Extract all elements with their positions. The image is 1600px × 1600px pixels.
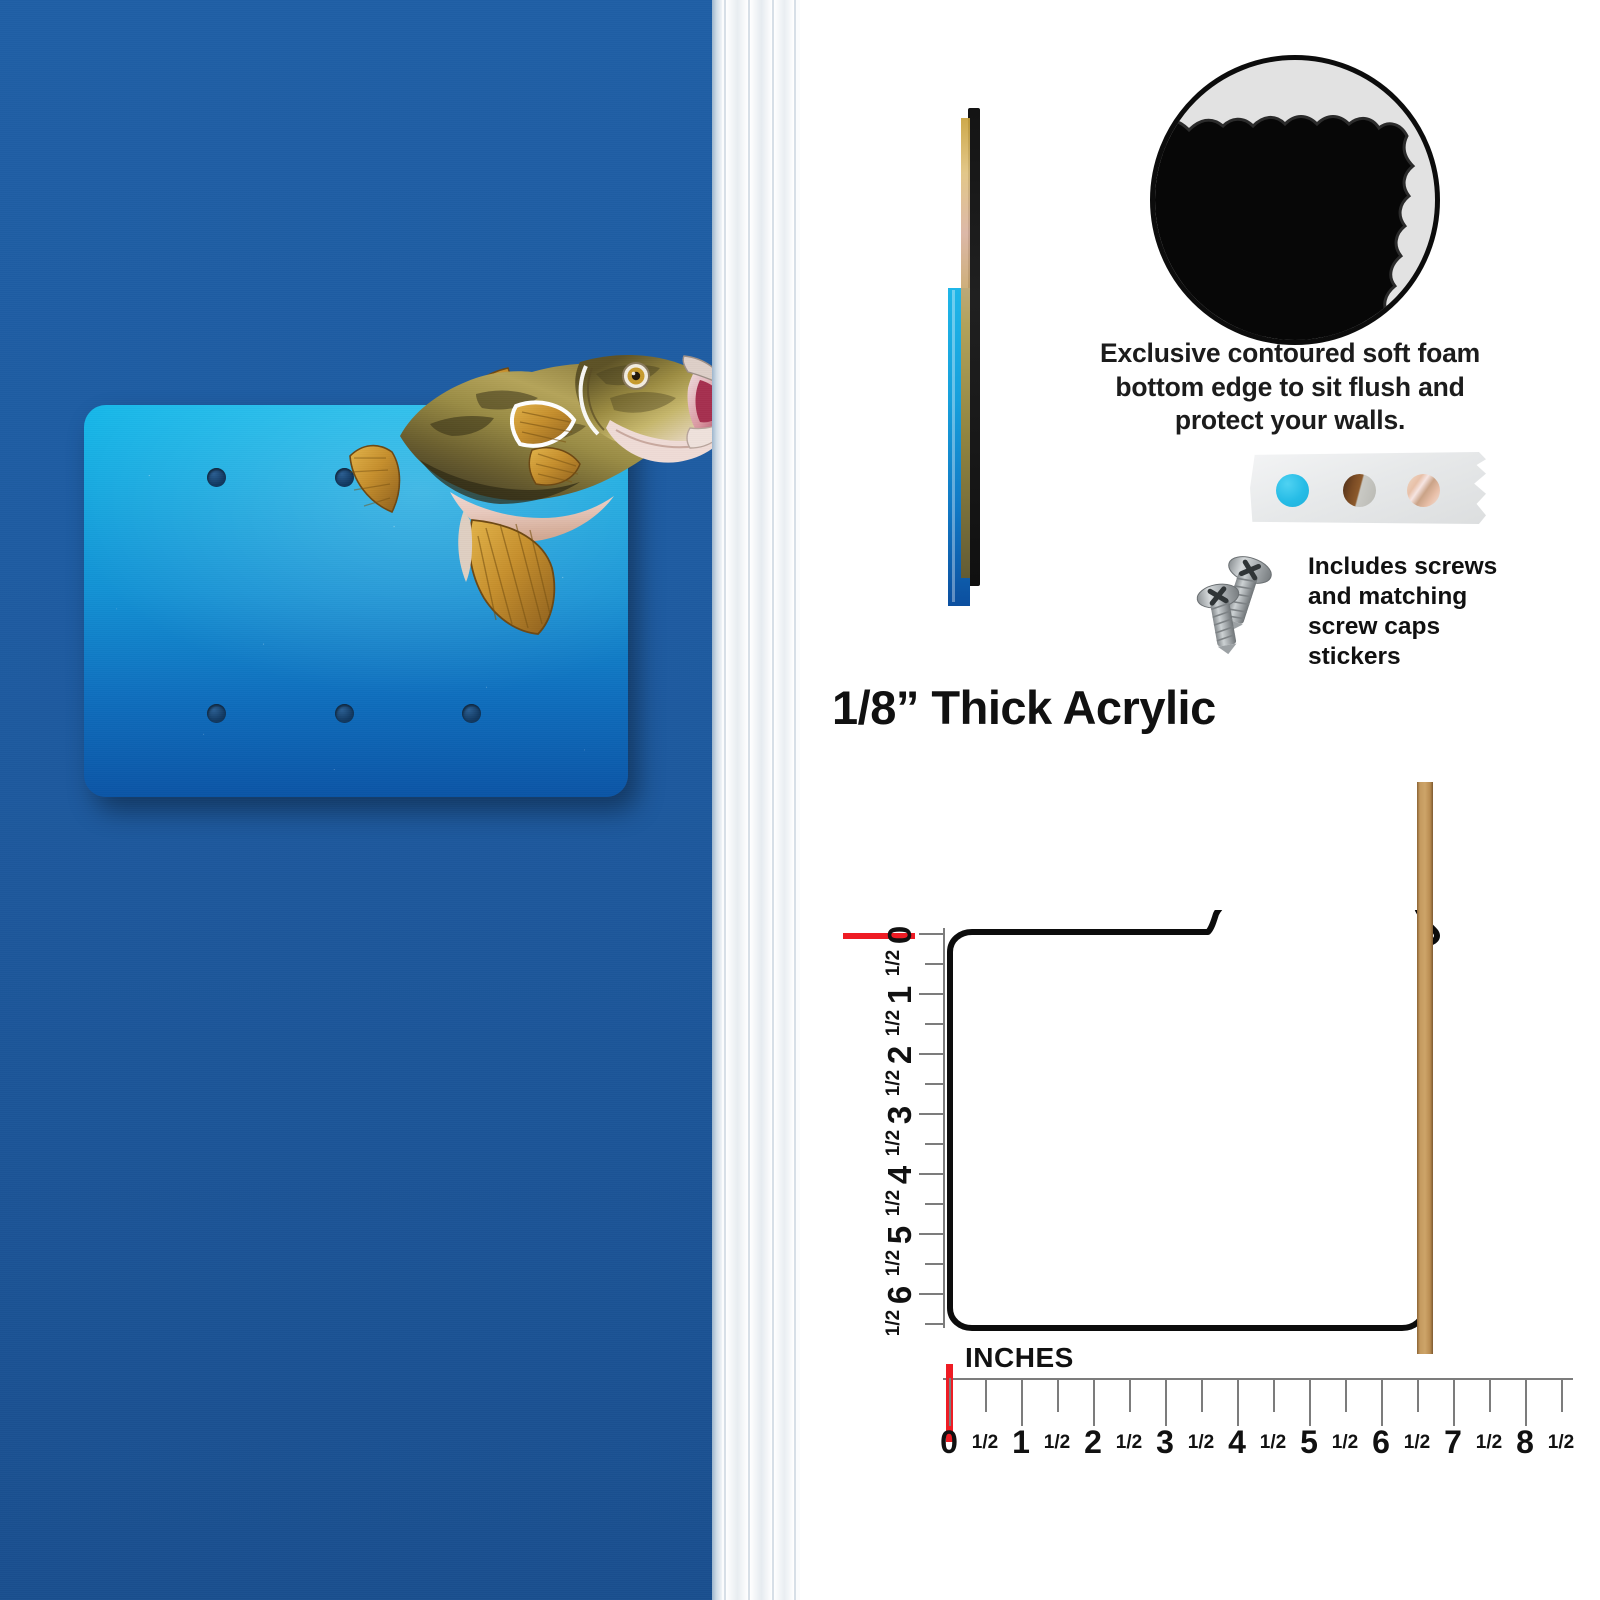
mounting-hole bbox=[207, 468, 226, 487]
h-tick-label: 1/2 bbox=[1260, 1432, 1286, 1454]
v-tick-label: 1/2 bbox=[883, 1010, 905, 1036]
mounting-hole bbox=[462, 704, 481, 723]
trim-shadow-edge bbox=[712, 0, 722, 1600]
h-tick-label: 1/2 bbox=[1188, 1432, 1214, 1454]
vertical-ruler: 0 1/2 1 1/2 2 1/2 3 1/2 4 1/2 bbox=[835, 928, 945, 1328]
h-tick-label: 7 bbox=[1444, 1424, 1462, 1461]
product-outline-shape bbox=[940, 910, 1450, 1340]
h-tick-label: 1/2 bbox=[1116, 1432, 1142, 1454]
wall-background bbox=[0, 0, 712, 1600]
v-tick-label: 2 bbox=[881, 1046, 919, 1064]
h-tick-label: 1 bbox=[1012, 1424, 1030, 1461]
mounting-hole bbox=[335, 468, 354, 487]
horizontal-ruler: INCHES 0 1/2 1 1/2 2 1/2 3 1/2 4 bbox=[943, 1352, 1573, 1462]
dimension-diagram: 0 1/2 1 1/2 2 1/2 3 1/2 4 1/2 bbox=[800, 760, 1600, 1520]
trim-flute bbox=[750, 0, 772, 1600]
h-tick-label: 0 bbox=[940, 1424, 958, 1461]
plaque-speckle-texture bbox=[84, 405, 628, 797]
wood-reference-bar bbox=[1417, 782, 1433, 1354]
trim-flute bbox=[726, 0, 748, 1600]
inches-axis-label: INCHES bbox=[965, 1342, 1074, 1374]
screw-cap-sticker-sheet bbox=[1250, 452, 1486, 524]
edge-profile-icon bbox=[948, 108, 980, 608]
info-panel: Exclusive contoured soft foam bottom edg… bbox=[800, 0, 1600, 1600]
trim-flute bbox=[774, 0, 794, 1600]
foam-edge-callout-text: Exclusive contoured soft foam bottom edg… bbox=[1080, 337, 1500, 438]
v-tick-label: 3 bbox=[881, 1106, 919, 1124]
mounting-hole bbox=[462, 468, 481, 487]
h-tick-label: 1/2 bbox=[1476, 1432, 1502, 1454]
wood-cap-sticker bbox=[1343, 474, 1376, 507]
mounting-hole bbox=[207, 704, 226, 723]
h-tick-label: 2 bbox=[1084, 1424, 1102, 1461]
v-tick-label: 4 bbox=[881, 1166, 919, 1184]
screw-icon bbox=[1188, 548, 1298, 658]
h-tick-label: 6 bbox=[1372, 1424, 1390, 1461]
h-tick-label: 1/2 bbox=[1332, 1432, 1358, 1454]
h-tick-label: 4 bbox=[1228, 1424, 1246, 1461]
thickness-title: 1/8” Thick Acrylic bbox=[832, 680, 1216, 735]
h-tick-label: 1/2 bbox=[1044, 1432, 1070, 1454]
door-trim-molding bbox=[712, 0, 800, 1600]
v-tick-label: 6 bbox=[881, 1286, 919, 1304]
mounting-hole bbox=[335, 704, 354, 723]
v-tick-label: 1/2 bbox=[883, 1190, 905, 1216]
blue-cap-sticker bbox=[1276, 474, 1309, 507]
product-infographic: Exclusive contoured soft foam bottom edg… bbox=[0, 0, 1600, 1600]
v-tick-label: 1/2 bbox=[883, 1310, 905, 1336]
v-tick-label: 1/2 bbox=[883, 950, 905, 976]
foam-edge-zoom-icon bbox=[1150, 55, 1440, 345]
v-tick-label: 1/2 bbox=[883, 1070, 905, 1096]
v-tick-label: 0 bbox=[881, 926, 919, 944]
acrylic-plaque bbox=[84, 405, 628, 797]
h-tick-label: 8 bbox=[1516, 1424, 1534, 1461]
bass-fish-artwork bbox=[280, 332, 736, 662]
marble-cap-sticker bbox=[1407, 474, 1440, 507]
v-tick-label: 1/2 bbox=[883, 1130, 905, 1156]
h-tick-label: 5 bbox=[1300, 1424, 1318, 1461]
h-tick-label: 1/2 bbox=[1404, 1432, 1430, 1454]
h-tick-label: 1/2 bbox=[972, 1432, 998, 1454]
screws-callout-text: Includes screws and matching screw caps … bbox=[1308, 552, 1520, 672]
v-tick-label: 1 bbox=[881, 986, 919, 1004]
h-tick-label: 3 bbox=[1156, 1424, 1174, 1461]
horizontal-ruler-spine bbox=[943, 1378, 1573, 1380]
v-tick-label: 5 bbox=[881, 1226, 919, 1244]
h-tick-label: 1/2 bbox=[1548, 1432, 1574, 1454]
v-tick-label: 1/2 bbox=[883, 1250, 905, 1276]
